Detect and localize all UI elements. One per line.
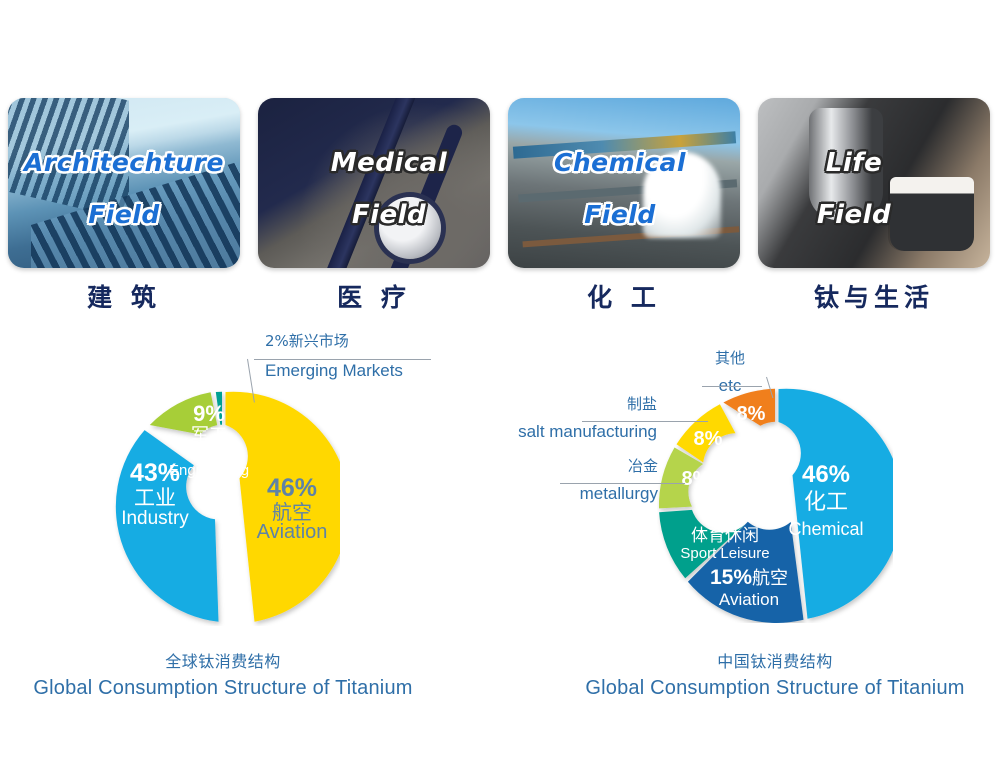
leader-line-metallurgy — [560, 483, 685, 484]
medical-caption-line1: Medical — [258, 148, 490, 178]
leader-line-etc-h — [702, 386, 762, 387]
chemical-caption-line2: Field — [508, 200, 740, 229]
slice-industry[interactable] — [116, 430, 219, 622]
callout-salt-zh: 制盐 — [503, 393, 657, 414]
china-caption-zh: 中国钛消费结构 — [545, 648, 1000, 672]
slice-salt-manufacturing[interactable] — [677, 404, 736, 462]
chemical-photo — [508, 98, 740, 268]
field-card-row: Architechture Field Medical Field Chemic… — [0, 98, 1000, 270]
slice-military[interactable] — [150, 392, 217, 434]
china-caption-en: Global Consumption Structure of Titanium — [545, 677, 1000, 700]
field-label-chemical: 化 工 — [508, 278, 740, 314]
field-card-chemical[interactable]: Chemical Field — [508, 98, 740, 268]
life-caption-line2: Field — [758, 200, 990, 230]
global-donut-svg — [104, 390, 340, 626]
callout-salt-en: salt manufacturing — [503, 422, 657, 442]
slice-emerging-markets[interactable] — [216, 392, 222, 425]
callout-metallurgy: 冶金 metallurgy — [548, 455, 658, 504]
architecture-caption-line1: Architechture — [8, 148, 240, 177]
global-chart-caption: 全球钛消费结构 Global Consumption Structure of … — [0, 648, 453, 700]
china-consumption-donut[interactable]: 46% 化工 Chemical 15%航空 Aviation 15% 体育休闲 … — [657, 387, 893, 623]
callout-etc-zh: 其他 — [700, 347, 760, 368]
field-card-architecture[interactable]: Architechture Field — [8, 98, 240, 268]
architecture-caption-line2: Field — [8, 200, 240, 229]
callout-emerging-markets-zh: 2%新兴市场 — [265, 330, 403, 351]
field-card-medical[interactable]: Medical Field — [258, 98, 490, 268]
callout-emerging-markets-en: Emerging Markets — [265, 361, 403, 381]
field-label-medical: 医 疗 — [258, 278, 490, 314]
field-card-life[interactable]: Life Field — [758, 98, 990, 268]
callout-metallurgy-zh: 冶金 — [548, 455, 658, 476]
chemical-caption-line1: Chemical — [508, 148, 740, 177]
field-label-life: 钛与生活 — [758, 278, 990, 314]
medical-caption-line2: Field — [258, 200, 490, 230]
global-caption-en: Global Consumption Structure of Titanium — [0, 677, 453, 700]
field-label-architecture: 建 筑 — [8, 278, 240, 314]
leader-line-salt — [582, 421, 708, 422]
medical-photo — [258, 98, 490, 268]
global-caption-zh: 全球钛消费结构 — [0, 648, 453, 672]
life-photo — [758, 98, 990, 268]
leader-line-emerging-h — [254, 359, 431, 360]
callout-salt: 制盐 salt manufacturing — [503, 393, 657, 442]
callout-etc: 其他 etc — [700, 347, 760, 396]
callout-metallurgy-en: metallurgy — [548, 484, 658, 504]
slice-aviation[interactable] — [226, 392, 341, 622]
architecture-photo — [8, 98, 240, 268]
page-root: Architechture Field Medical Field Chemic… — [0, 0, 1000, 781]
china-chart-caption: 中国钛消费结构 Global Consumption Structure of … — [545, 648, 1000, 700]
callout-emerging-markets: 2%新兴市场 Emerging Markets — [265, 330, 403, 381]
china-donut-svg — [657, 387, 893, 623]
global-consumption-donut[interactable]: 46% 航空 Aviation 43% 工业 Industry 9% 军工 Mi… — [104, 390, 340, 626]
life-caption-line1: Life — [758, 148, 990, 178]
